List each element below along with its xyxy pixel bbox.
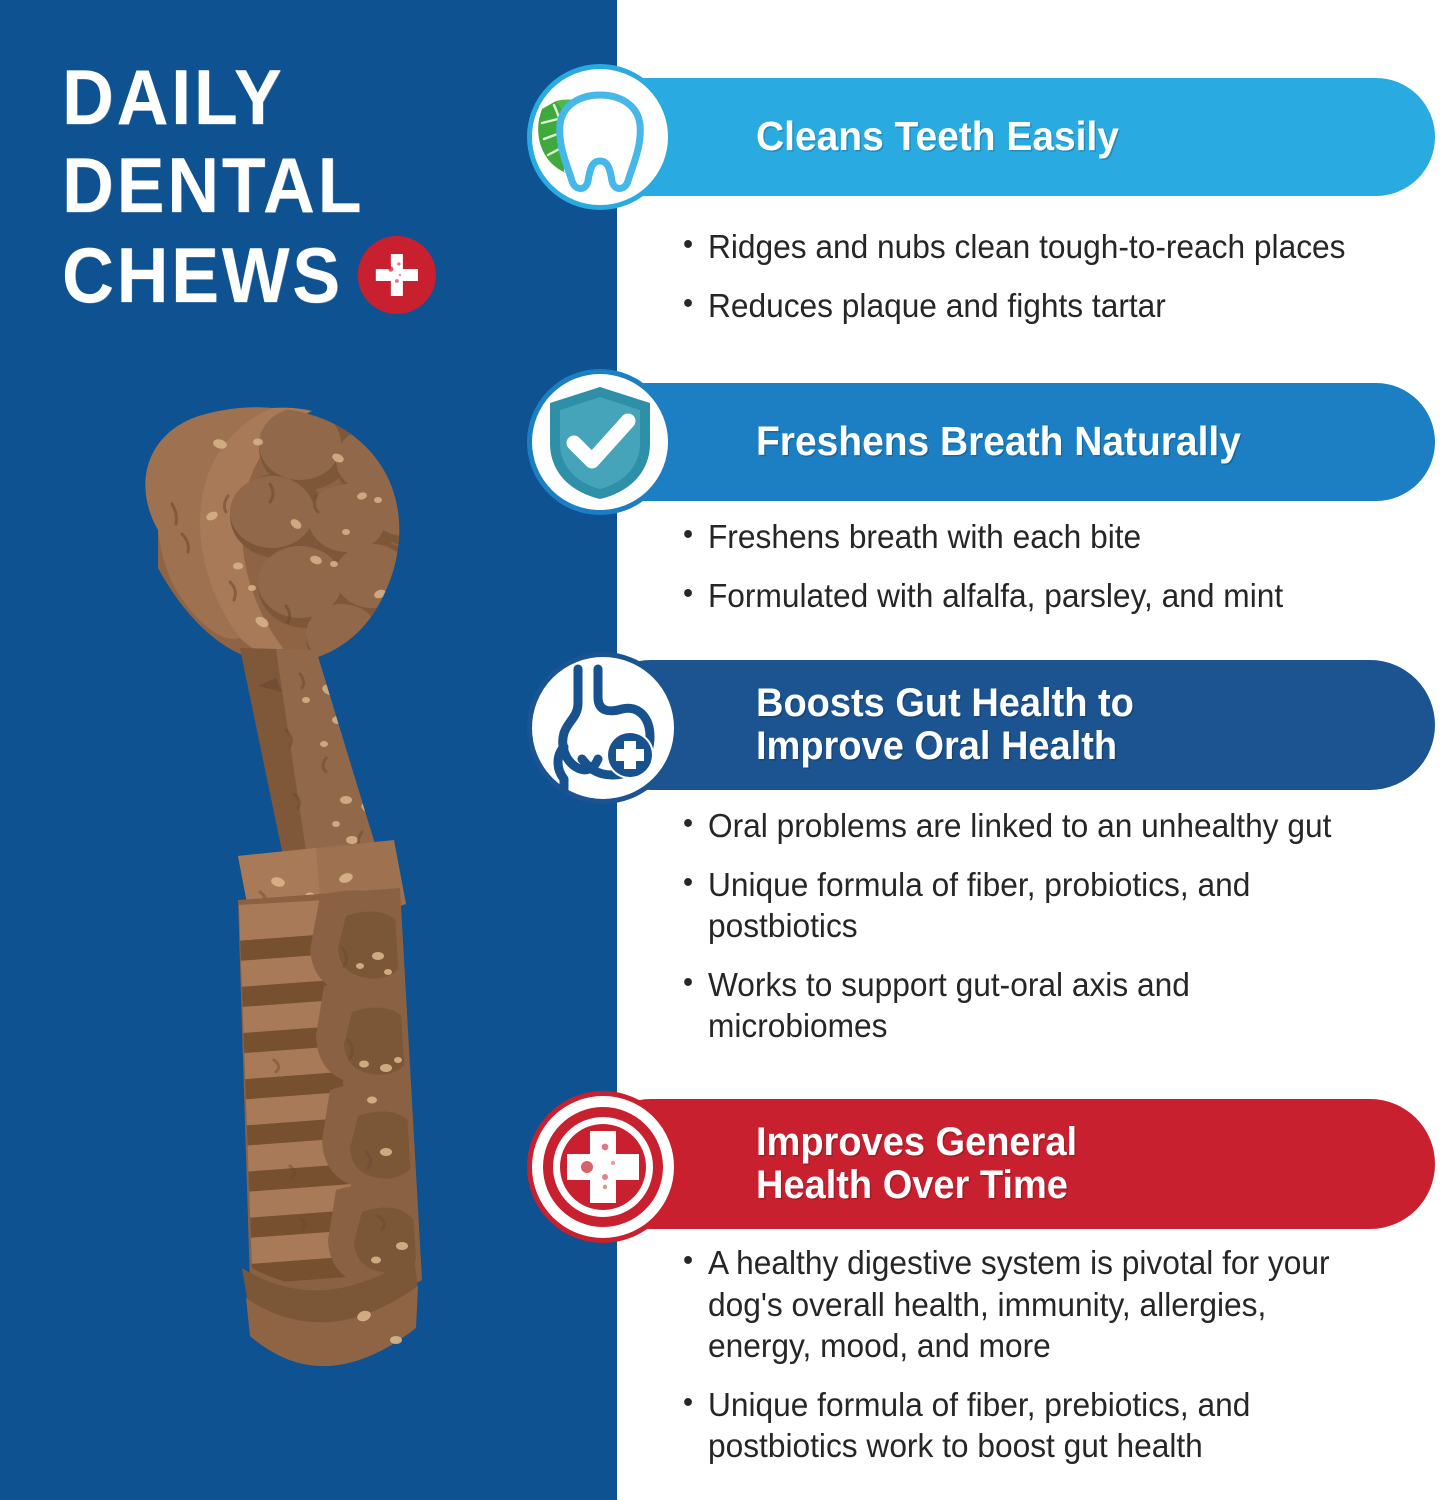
feature-banner-cleans-teeth[interactable]: Cleans Teeth Easily — [586, 78, 1435, 196]
bullet-text: Oral problems are linked to an unhealthy… — [708, 805, 1374, 847]
bullet-dot: • — [683, 226, 708, 264]
feature-title-freshens-breath: Freshens Breath Naturally — [756, 420, 1241, 463]
title-line-2: DENTAL — [62, 148, 494, 222]
chew-head — [145, 406, 450, 674]
title-line-1: DAILY — [62, 60, 494, 134]
bullet-text: Freshens breath with each bite — [708, 516, 1398, 558]
bullet-item: • A healthy digestive system is pivotal … — [683, 1242, 1355, 1367]
title-line-3-row: CHEWS — [62, 236, 494, 314]
stomach-plus-icon — [527, 652, 679, 804]
feature-bullets-improves-general-health: • A healthy digestive system is pivotal … — [683, 1242, 1383, 1484]
dog-dental-chew-illustration — [110, 400, 510, 1410]
feature-bullets-cleans-teeth: • Ridges and nubs clean tough-to-reach p… — [683, 226, 1428, 343]
bullet-dot: • — [683, 1242, 708, 1280]
title-line-3: CHEWS — [62, 238, 343, 312]
medical-cross-icon — [527, 1091, 679, 1243]
bullet-dot: • — [683, 285, 708, 323]
bullet-dot: • — [683, 1384, 708, 1422]
feature-title-improves-general-health: Improves General Health Over Time — [756, 1121, 1077, 1207]
feature-title-cleans-teeth: Cleans Teeth Easily — [756, 115, 1119, 158]
bullet-dot: • — [683, 805, 708, 843]
bullet-item: • Ridges and nubs clean tough-to-reach p… — [683, 226, 1398, 268]
bullet-item: • Reduces plaque and fights tartar — [683, 285, 1398, 327]
left-blue-panel: DAILY DENTAL CHEWS — [0, 0, 617, 1500]
chew-neck — [240, 648, 378, 870]
shield-check-icon — [527, 369, 673, 515]
product-title-block: DAILY DENTAL CHEWS — [62, 60, 532, 328]
tooth-icon — [560, 95, 641, 189]
tooth-mint-icon — [527, 64, 673, 210]
infographic-page: DAILY DENTAL CHEWS — [0, 0, 1444, 1500]
bullet-dot: • — [683, 964, 708, 1002]
bullet-dot: • — [683, 575, 708, 613]
bullet-text: A healthy digestive system is pivotal fo… — [708, 1242, 1355, 1367]
feature-bullets-boosts-gut-health: • Oral problems are linked to an unhealt… — [683, 805, 1403, 1064]
bullet-text: Unique formula of fiber, prebiotics, and… — [708, 1384, 1355, 1467]
bullet-item: • Freshens breath with each bite — [683, 516, 1398, 558]
bullet-item: • Formulated with alfalfa, parsley, and … — [683, 575, 1398, 617]
bullet-dot: • — [683, 516, 708, 554]
bullet-text: Ridges and nubs clean tough-to-reach pla… — [708, 226, 1398, 268]
bullet-item: • Unique formula of fiber, prebiotics, a… — [683, 1384, 1355, 1467]
bullet-item: • Unique formula of fiber, probiotics, a… — [683, 864, 1374, 947]
bullet-dot: • — [683, 864, 708, 902]
bullet-text: Works to support gut-oral axis and micro… — [708, 964, 1374, 1047]
feature-banner-improves-general-health[interactable]: Improves General Health Over Time — [586, 1099, 1435, 1229]
feature-title-boosts-gut-health: Boosts Gut Health to Improve Oral Health — [756, 682, 1134, 768]
feature-bullets-freshens-breath: • Freshens breath with each bite • Formu… — [683, 516, 1428, 633]
bullet-item: • Oral problems are linked to an unhealt… — [683, 805, 1374, 847]
feature-banner-freshens-breath[interactable]: Freshens Breath Naturally — [586, 383, 1435, 501]
bullet-text: Reduces plaque and fights tartar — [708, 285, 1398, 327]
bullet-item: • Works to support gut-oral axis and mic… — [683, 964, 1374, 1047]
feature-banner-boosts-gut-health[interactable]: Boosts Gut Health to Improve Oral Health — [586, 660, 1435, 790]
bullet-text: Unique formula of fiber, probiotics, and… — [708, 864, 1374, 947]
medical-cross-icon — [358, 236, 436, 314]
bullet-text: Formulated with alfalfa, parsley, and mi… — [708, 575, 1398, 617]
chew-body — [220, 888, 433, 1308]
